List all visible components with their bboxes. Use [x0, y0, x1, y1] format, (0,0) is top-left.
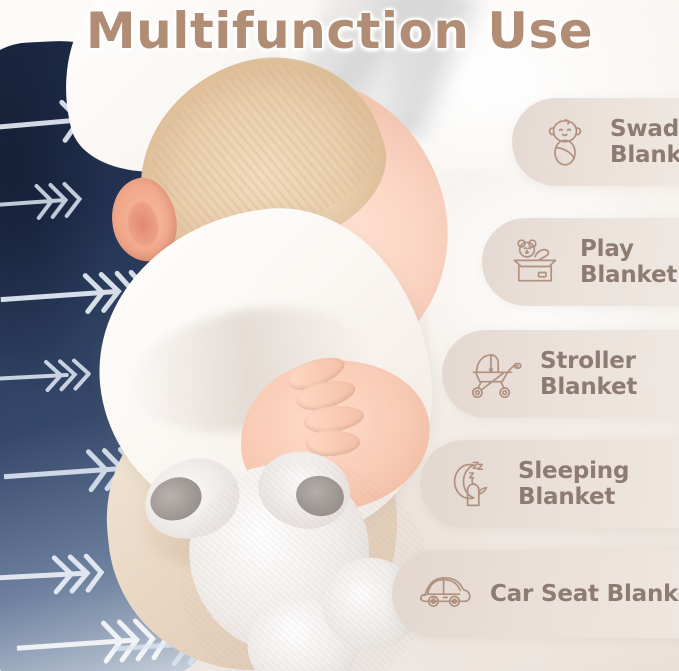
feature-card-swaddle-blanket[interactable]: Swaddle Blanket: [512, 98, 679, 186]
product-infographic: Multifunction Use Swaddle Blanket: [0, 0, 679, 671]
feature-card-play-blanket[interactable]: Play Blanket: [482, 218, 679, 306]
feature-label: Sleeping Blanket: [518, 458, 679, 510]
feature-card-sleeping-blanket[interactable]: Sleeping Blanket: [420, 440, 679, 528]
car-icon: [414, 563, 476, 625]
feature-list: Swaddle Blanket Play Blanket: [0, 0, 679, 671]
feature-card-stroller-blanket[interactable]: Stroller Blanket: [442, 330, 679, 418]
toy-box-bear-icon: [504, 231, 566, 293]
feature-card-car-seat-blanket[interactable]: Car Seat Blanket: [392, 550, 679, 638]
feature-label: Swaddle Blanket: [610, 116, 679, 168]
feature-label: Play Blanket: [580, 236, 679, 288]
moon-sleeping-cat-icon: [442, 453, 504, 515]
feature-label: Car Seat Blanket: [490, 581, 679, 607]
feature-label: Stroller Blanket: [540, 348, 679, 400]
swaddled-baby-icon: [534, 111, 596, 173]
page-title: Multifunction Use: [0, 2, 679, 60]
pram-stroller-icon: [464, 343, 526, 405]
